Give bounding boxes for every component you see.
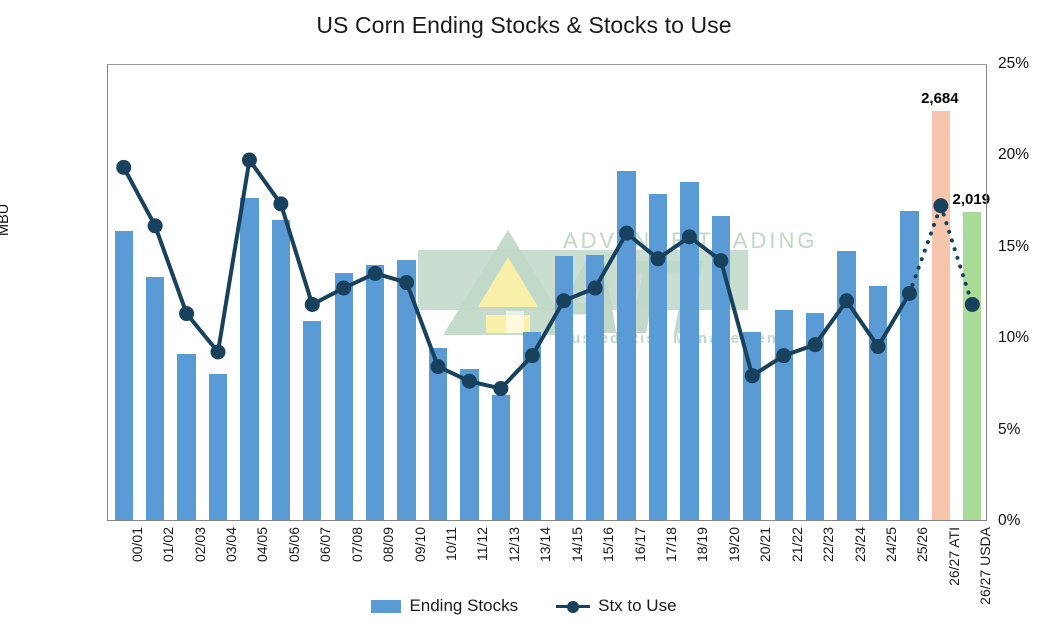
bar-00-01 bbox=[115, 231, 133, 520]
line-marker-12-13 bbox=[493, 381, 508, 396]
chart-container: US Corn Ending Stocks & Stocks to Use MB… bbox=[0, 0, 1048, 638]
bar-13-14 bbox=[523, 332, 541, 520]
y-tick-right: 5% bbox=[998, 421, 1048, 439]
line-segment bbox=[187, 314, 218, 352]
x-tick-10-11: 10/11 bbox=[443, 527, 459, 545]
chart-legend: Ending Stocks Stx to Use bbox=[0, 596, 1048, 616]
x-tick-05-06: 05/06 bbox=[286, 527, 302, 545]
x-tick-label: 22/23 bbox=[820, 527, 836, 637]
line-marker-02-03 bbox=[179, 306, 194, 321]
bar-11-12 bbox=[460, 369, 478, 520]
x-tick-16-17: 16/17 bbox=[632, 527, 648, 545]
x-tick-label: 06/07 bbox=[317, 527, 333, 637]
x-tick-17-18: 17/18 bbox=[663, 527, 679, 545]
x-tick-06-07: 06/07 bbox=[317, 527, 333, 545]
bar-05-06 bbox=[272, 220, 290, 520]
x-tick-label: 04/05 bbox=[254, 527, 270, 637]
legend-label-ending-stocks: Ending Stocks bbox=[409, 596, 518, 616]
x-tick-26-27-ati: 26/27 ATI bbox=[946, 527, 962, 545]
bar-07-08 bbox=[335, 273, 353, 520]
x-tick-label: 17/18 bbox=[663, 527, 679, 637]
bar-20-21 bbox=[743, 332, 761, 520]
x-tick-00-01: 00/01 bbox=[129, 527, 145, 545]
x-tick-24-25: 24/25 bbox=[883, 527, 899, 545]
bar-25-26 bbox=[900, 211, 918, 520]
x-tick-label: 12/13 bbox=[506, 527, 522, 637]
x-tick-12-13: 12/13 bbox=[506, 527, 522, 545]
bar-26-27-ati bbox=[932, 111, 950, 520]
x-tick-label: 10/11 bbox=[443, 527, 459, 637]
x-tick-19-20: 19/20 bbox=[726, 527, 742, 545]
bar-02-03 bbox=[177, 354, 195, 520]
x-tick-label: 26/27 USDA bbox=[977, 527, 993, 637]
x-tick-20-21: 20/21 bbox=[757, 527, 773, 545]
line-marker-06-07 bbox=[305, 297, 320, 312]
bar-14-15 bbox=[555, 256, 573, 520]
x-tick-label: 18/19 bbox=[694, 527, 710, 637]
bar-10-11 bbox=[429, 348, 447, 520]
y-axis-title: MBU bbox=[0, 204, 12, 236]
x-tick-22-23: 22/23 bbox=[820, 527, 836, 545]
bar-15-16 bbox=[586, 255, 604, 520]
x-tick-21-22: 21/22 bbox=[789, 527, 805, 545]
bar-24-25 bbox=[869, 286, 887, 520]
x-tick-01-02: 01/02 bbox=[160, 527, 176, 545]
x-tick-09-10: 09/10 bbox=[412, 527, 428, 545]
line-marker-03-04 bbox=[211, 344, 226, 359]
y-tick-right: 10% bbox=[998, 329, 1048, 347]
line-marker-01-02 bbox=[148, 218, 163, 233]
bar-12-13 bbox=[492, 395, 510, 520]
x-tick-label: 11/12 bbox=[474, 527, 490, 637]
x-tick-label: 19/20 bbox=[726, 527, 742, 637]
x-tick-13-14: 13/14 bbox=[537, 527, 553, 545]
x-tick-label: 00/01 bbox=[129, 527, 145, 637]
bar-16-17 bbox=[617, 171, 635, 520]
bar-08-09 bbox=[366, 265, 384, 520]
x-tick-08-09: 08/09 bbox=[380, 527, 396, 545]
bar-21-22 bbox=[775, 310, 793, 520]
x-tick-25-26: 25/26 bbox=[914, 527, 930, 545]
chart-title: US Corn Ending Stocks & Stocks to Use bbox=[0, 12, 1048, 39]
x-tick-label: 14/15 bbox=[569, 527, 585, 637]
bar-17-18 bbox=[649, 194, 667, 520]
plot-area: ADVANCE TRADING INC. Trusted Risk Manage… bbox=[107, 64, 987, 521]
x-tick-label: 05/06 bbox=[286, 527, 302, 637]
bar-09-10 bbox=[397, 260, 415, 520]
x-tick-23-24: 23/24 bbox=[852, 527, 868, 545]
bar-19-20 bbox=[712, 216, 730, 520]
x-tick-14-15: 14/15 bbox=[569, 527, 585, 545]
y-tick-right: 0% bbox=[998, 512, 1048, 530]
x-tick-label: 26/27 ATI bbox=[946, 527, 962, 637]
x-tick-label: 23/24 bbox=[852, 527, 868, 637]
x-tick-label: 08/09 bbox=[380, 527, 396, 637]
x-tick-label: 02/03 bbox=[192, 527, 208, 637]
x-tick-11-12: 11/12 bbox=[474, 527, 490, 545]
x-tick-15-16: 15/16 bbox=[600, 527, 616, 545]
y-tick-right: 25% bbox=[998, 55, 1048, 73]
bar-04-05 bbox=[240, 198, 258, 520]
y-tick-right: 20% bbox=[998, 146, 1048, 164]
bar-06-07 bbox=[303, 321, 321, 520]
x-tick-02-03: 02/03 bbox=[192, 527, 208, 545]
x-tick-label: 20/21 bbox=[757, 527, 773, 637]
y-tick-right: 15% bbox=[998, 238, 1048, 256]
legend-line-swatch-icon bbox=[556, 599, 590, 613]
bar-23-24 bbox=[837, 251, 855, 520]
legend-bar-swatch-icon bbox=[371, 600, 401, 613]
x-tick-label: 24/25 bbox=[883, 527, 899, 637]
line-marker-00-01 bbox=[116, 160, 131, 175]
bar-26-27-usda bbox=[963, 212, 981, 520]
legend-item-ending-stocks[interactable]: Ending Stocks bbox=[371, 596, 518, 616]
x-tick-18-19: 18/19 bbox=[694, 527, 710, 545]
bar-18-19 bbox=[680, 182, 698, 520]
x-tick-label: 13/14 bbox=[537, 527, 553, 637]
line-marker-04-05 bbox=[242, 153, 257, 168]
x-tick-label: 25/26 bbox=[914, 527, 930, 637]
bar-22-23 bbox=[806, 313, 824, 520]
x-tick-label: 09/10 bbox=[412, 527, 428, 637]
bar-01-02 bbox=[146, 277, 164, 520]
legend-label-stx-to-use: Stx to Use bbox=[598, 596, 676, 616]
plot-clip: ADVANCE TRADING INC. Trusted Risk Manage… bbox=[108, 65, 986, 520]
x-tick-04-05: 04/05 bbox=[254, 527, 270, 545]
x-tick-label: 21/22 bbox=[789, 527, 805, 637]
x-tick-label: 03/04 bbox=[223, 527, 239, 637]
bar-03-04 bbox=[209, 374, 227, 520]
line-marker-05-06 bbox=[273, 196, 288, 211]
x-tick-label: 16/17 bbox=[632, 527, 648, 637]
x-tick-label: 15/16 bbox=[600, 527, 616, 637]
legend-item-stx-to-use[interactable]: Stx to Use bbox=[556, 596, 676, 616]
line-segment bbox=[124, 167, 155, 225]
x-tick-07-08: 07/08 bbox=[349, 527, 365, 545]
x-tick-26-27-usda: 26/27 USDA bbox=[977, 527, 993, 545]
x-tick-label: 07/08 bbox=[349, 527, 365, 637]
x-tick-label: 01/02 bbox=[160, 527, 176, 637]
x-tick-03-04: 03/04 bbox=[223, 527, 239, 545]
